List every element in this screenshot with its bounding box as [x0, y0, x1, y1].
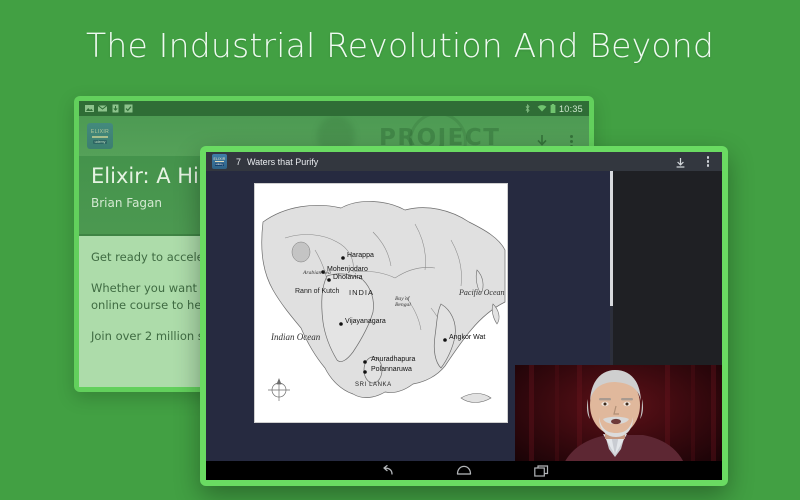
back-app-icon-badge: udemy [93, 140, 108, 144]
front-tablet-screen: ELIXIR udemy 7 Waters that Purify [206, 152, 722, 480]
page-title: The Industrial Revolution And Beyond [0, 26, 800, 65]
back-app-icon-label: ELIXIR [91, 129, 109, 135]
bluetooth-icon [524, 104, 533, 113]
photo-icon [85, 104, 94, 113]
wifi-icon [537, 104, 546, 113]
chapter-title: Waters that Purify [247, 157, 318, 167]
back-icon[interactable] [379, 465, 394, 477]
front-download-icon[interactable] [675, 156, 686, 168]
back-status-bar: 10:35 [79, 101, 589, 116]
recents-icon[interactable] [534, 465, 549, 477]
android-nav-bar [206, 461, 722, 480]
front-action-bar: ELIXIR udemy 7 Waters that Purify [206, 152, 722, 171]
home-icon[interactable] [456, 465, 472, 477]
download-icon [111, 104, 120, 113]
back-status-left-icons [85, 104, 133, 113]
front-app-icon-badge: udemy [215, 163, 225, 166]
screenshot-root: The Industrial Revolution And Beyond [0, 0, 800, 500]
back-book-author: Brian Fagan [91, 196, 162, 210]
front-app-icon-label: ELIXIR [214, 157, 226, 161]
front-app-icon[interactable]: ELIXIR udemy [212, 154, 227, 169]
back-status-clock: 10:35 [559, 104, 583, 114]
front-tablet-device: ELIXIR udemy 7 Waters that Purify [200, 146, 728, 486]
back-app-icon[interactable]: ELIXIR udemy [87, 123, 113, 149]
chapter-number: 7 [236, 157, 241, 167]
front-overflow-menu-icon[interactable] [707, 156, 710, 167]
back-status-right-icons [524, 104, 559, 113]
scrollbar-thumb[interactable] [610, 171, 613, 306]
asia-map [255, 184, 507, 422]
map-page: Harappa Mohenjodaro Dholavira Vijayanaga… [254, 183, 508, 423]
tasks-icon [124, 104, 133, 113]
back-app-icon-rule [92, 136, 108, 138]
battery-icon [550, 104, 559, 113]
reader-pane: Harappa Mohenjodaro Dholavira Vijayanaga… [206, 171, 722, 461]
mail-icon [98, 104, 107, 113]
